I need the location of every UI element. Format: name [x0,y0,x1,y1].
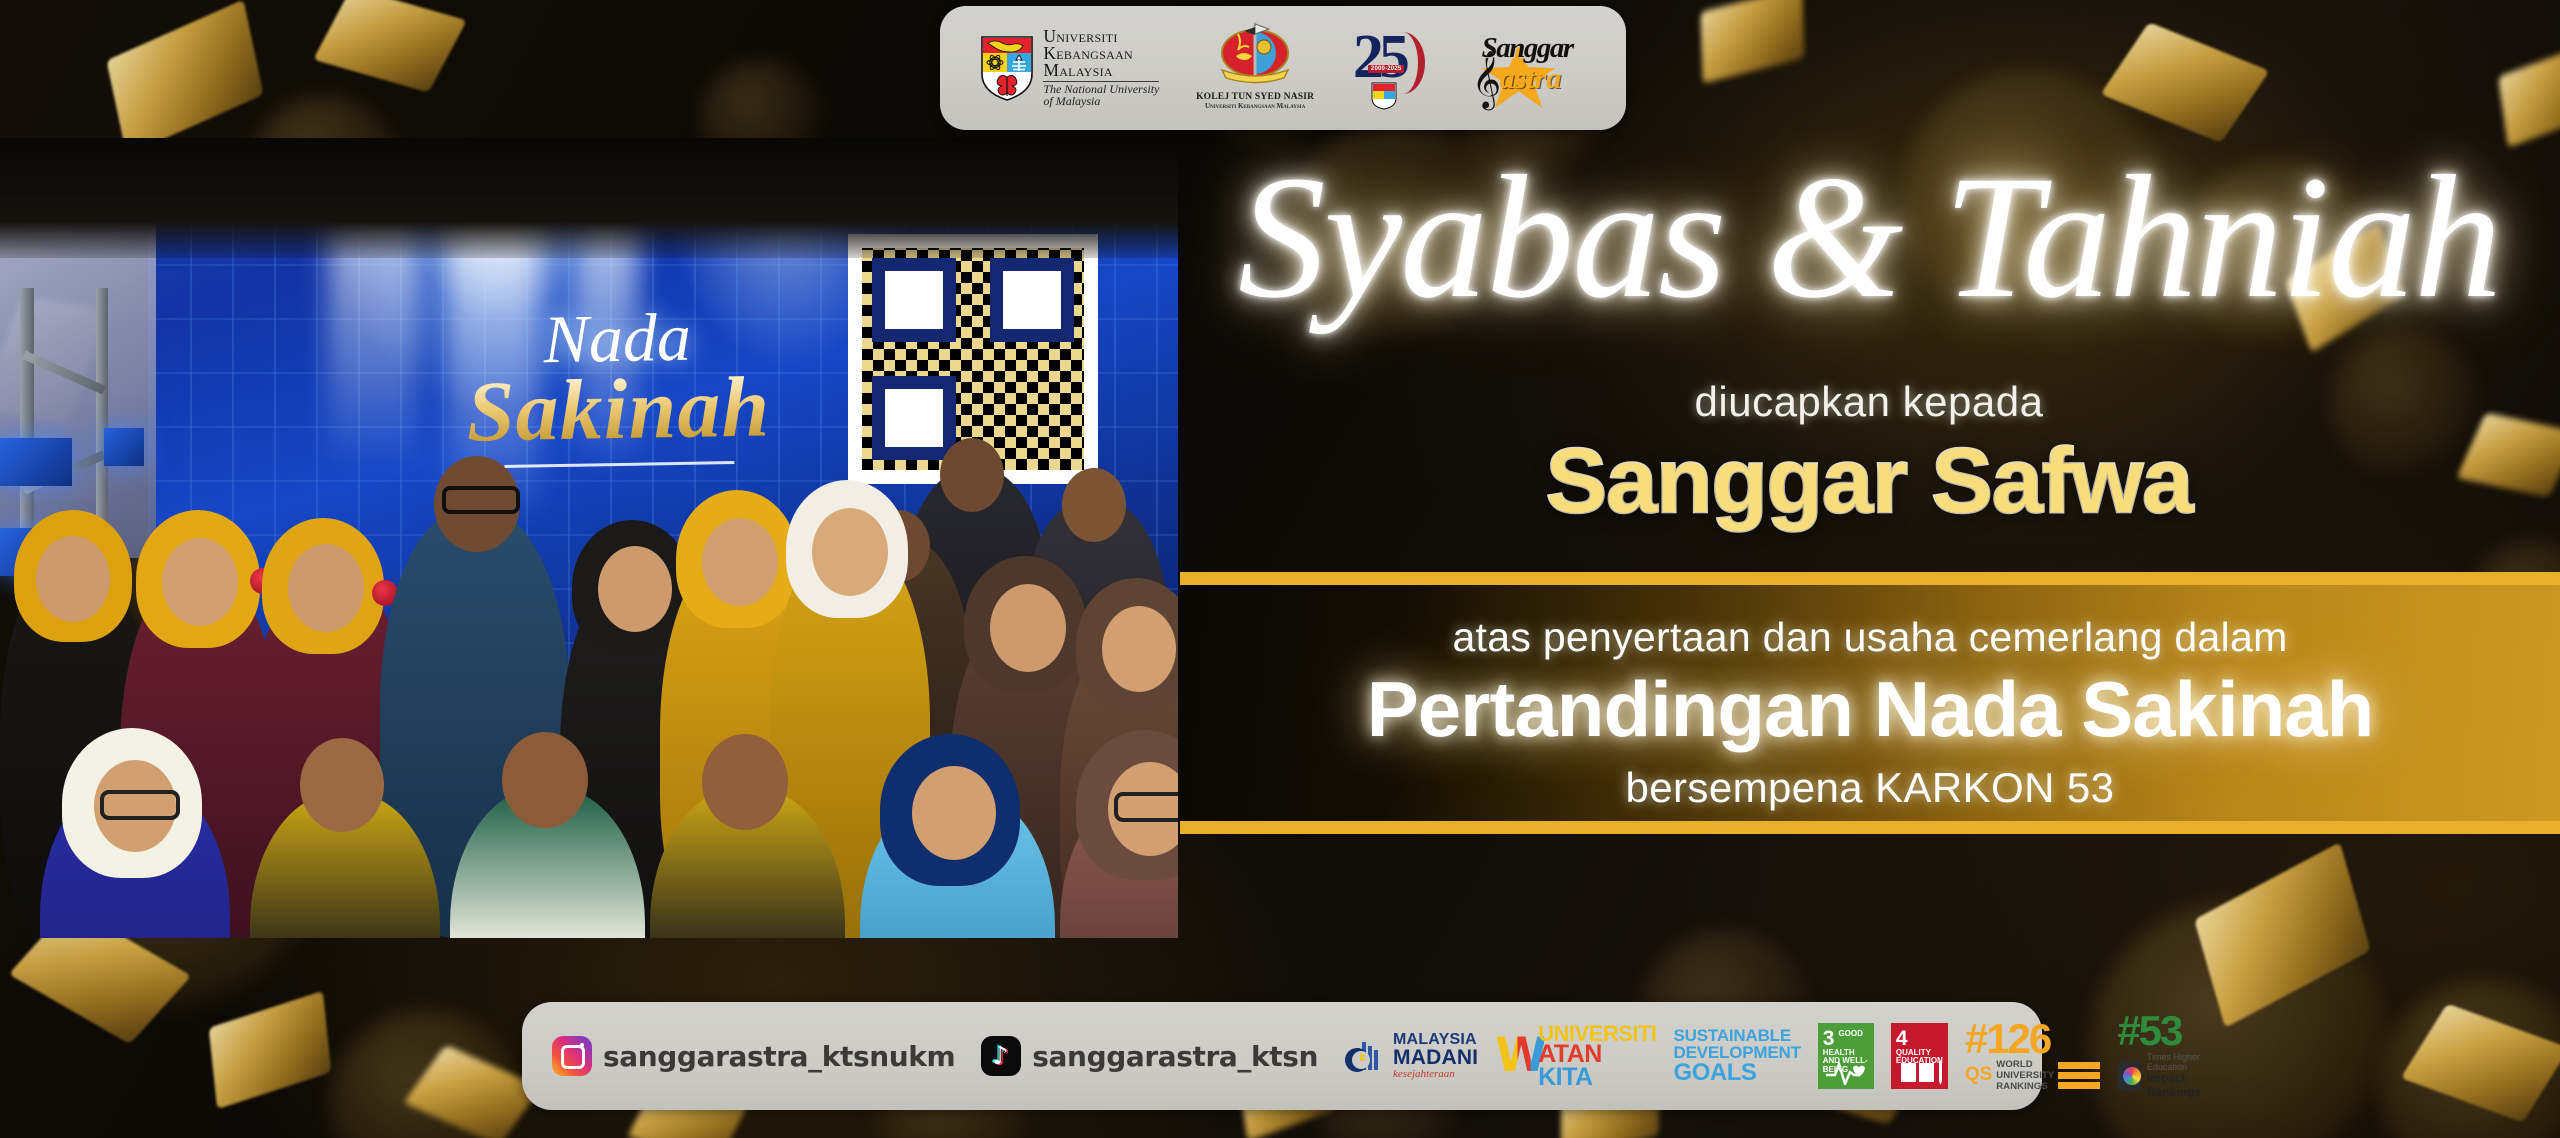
addressed-to-label: diucapkan kepada [1178,378,2560,426]
anniversary-years: 2000-2025 [1368,65,1405,73]
qs-line-3: RANKINGS [1996,1081,2054,1092]
competition-name: Pertandingan Nada Sakinah [1180,664,2560,755]
sanggar-astra-mark-icon: 𝄞 Sanggar astra [1466,26,1586,110]
sdg-tile-3: 3 GOOD HEALTH AND WELL-BEING [1818,1023,1874,1089]
header-logo-bar: Universiti Kebangsaan Malaysia The Natio… [940,6,1626,130]
madani-line-3: kesejahteraan [1393,1069,1478,1080]
tiktok-icon[interactable]: ♪ [981,1036,1021,1076]
instagram-handle[interactable]: sanggarastra_ktsnukm [603,1040,955,1073]
astra-word-2: astra [1500,62,1562,96]
instagram-icon[interactable] [552,1036,592,1076]
person-head [1062,468,1126,542]
person-head [702,734,788,830]
achievement-band: atas penyertaan dan usaha cemerlang dala… [1180,572,2560,834]
nada-title-2: Sakinah [358,365,879,456]
qs-bars-icon [2058,1062,2100,1089]
logo-universiti-watan-kita: W UNIVERSITI ATAN KITA [1495,1024,1656,1089]
watan-w-icon: W [1495,1036,1544,1076]
logo-sanggar-astra: 𝄞 Sanggar astra [1466,20,1586,116]
recipient-name: Sanggar Safwa [1178,430,2560,533]
footer-logo-group: MALAYSIA MADANI kesejahteraan W UNIVERSI… [1344,1012,2225,1100]
person-head [288,544,364,632]
logo-anniversary-25: 25 2000-2025 [1351,20,1429,116]
qs-rank: #126 [1965,1020,2050,1058]
person-head [36,536,110,622]
madani-icon [1344,1036,1386,1076]
congratulations-banner: Universiti Kebangsaan Malaysia The Natio… [0,0,2560,1138]
the-line-1: Times Higher Education [2147,1052,2225,1073]
sdg-line-1: SUSTAINABLE [1674,1027,1801,1044]
event-name: bersempena KARKON 53 [1180,764,2560,812]
stage-screen-panel [104,428,144,466]
script-headline: Syabas & Tahniah [1178,150,2560,326]
person-head [812,508,888,596]
gold-bar-bottom [1180,821,2560,834]
qs-mark: QS [1965,1064,1992,1086]
qs-line-2: UNIVERSITY [1996,1070,2054,1081]
nada-sakinah-logo: Nada Sakinah [357,303,880,470]
anniversary-mark-icon: 25 2000-2025 [1351,22,1429,114]
person-head [912,766,996,860]
footer-bar: sanggarastra_ktsnukm ♪ sanggarastra_ktsn… [522,1002,2042,1110]
person-head [940,438,1004,512]
ukm-line-3: Malaysia [1043,62,1159,79]
the-impact-icon [2117,1061,2142,1091]
ukm-crest-icon [980,34,1034,102]
person-head [598,546,672,632]
gold-bar-top [1180,572,2560,585]
achievement-intro: atas penyertaan dan usaha cemerlang dala… [1180,614,2560,661]
logo-sdg-wordmark: SUSTAINABLE DEVELOPMENT GOALS [1674,1027,1801,1085]
heartbeat-icon [1825,1059,1877,1085]
congratulation-text-column: Syabas & Tahniah diucapkan kepada Sangga… [1178,0,2560,1138]
logo-qs-ranking: #126 QS WORLD UNIVERSITY RANKINGS [1965,1020,2100,1092]
eyeglasses-icon [100,790,180,820]
sdg-3-number: 3 [1823,1028,1835,1049]
eyeglasses-icon [1114,792,1178,822]
anniversary-mini-crest-icon [1371,82,1397,110]
sdg-4-number: 4 [1896,1028,1908,1049]
sdg-line-3: GOALS [1674,1061,1801,1085]
tiktok-handle[interactable]: sanggarastra_ktsn [1032,1040,1318,1073]
ktsn-emblem-icon [1216,20,1294,90]
open-book-icon [1898,1059,1948,1085]
ktsn-subtitle: Universiti Kebangsaan Malaysia [1205,102,1305,110]
person-head [162,538,238,626]
person-head [1102,606,1176,692]
person-head [502,732,588,828]
logo-malaysia-madani: MALAYSIA MADANI kesejahteraan [1344,1032,1478,1079]
person-head [990,584,1066,672]
the-rank: #53 [2117,1012,2225,1050]
venue-ceiling [0,138,1178,258]
ukm-sub-2: of Malaysia [1043,95,1159,107]
logo-ukm: Universiti Kebangsaan Malaysia The Natio… [980,20,1159,116]
astra-word-1: Sanggar [1482,32,1573,65]
qs-line-1: WORLD [1996,1059,2054,1070]
eyeglasses-icon [442,486,520,514]
instagram-link[interactable]: sanggarastra_ktsnukm [552,1036,955,1076]
group-photo: QR Kod Maklum Balas Nada Sakinah [0,138,1178,938]
logo-kolej-tun-syed-nasir: KOLEJ TUN SYED NASIR Universiti Kebangsa… [1196,20,1314,116]
watan-line-2b: KITA [1538,1063,1592,1091]
ukm-wordmark: Universiti Kebangsaan Malaysia The Natio… [1043,28,1159,107]
sdg-tile-4: 4 QUALITY EDUCATION [1891,1023,1948,1089]
the-line-2: Impact Rankings [2147,1072,2225,1100]
tiktok-link[interactable]: ♪ sanggarastra_ktsn [981,1036,1318,1076]
madani-line-2: MADANI [1393,1048,1478,1069]
ktsn-title: KOLEJ TUN SYED NASIR [1196,92,1314,102]
stage-screen-panel [0,438,72,486]
person-head [300,738,384,832]
logo-the-impact-ranking: #53 Times Higher Education Impact Rankin… [2117,1012,2225,1100]
person-head [702,518,778,606]
